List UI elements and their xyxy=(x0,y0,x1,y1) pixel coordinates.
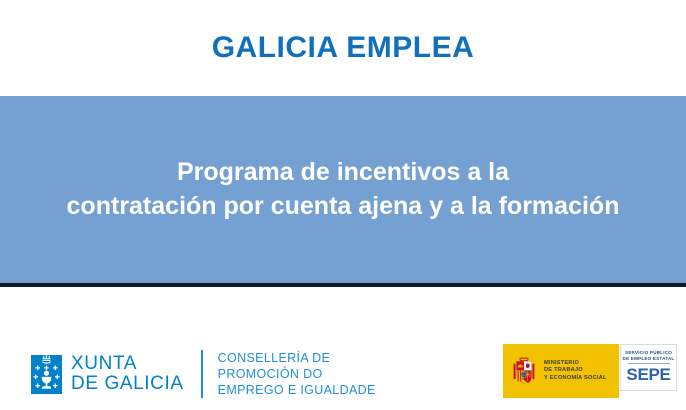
ministerio-line-1: MINISTERIO xyxy=(544,360,607,367)
ministerio-wordmark: MINISTERIO DE TRABAJO Y ECONOMÍA SOCIAL xyxy=(544,360,607,382)
escudo-de-espana-icon xyxy=(511,355,537,387)
conselleria-line-2: PROMOCIÓN DO xyxy=(218,366,376,382)
program-banner: Programa de incentivos a la contratación… xyxy=(0,96,686,283)
logo-divider xyxy=(201,350,203,398)
xunta-coat-of-arms-icon xyxy=(31,355,62,394)
conselleria-name: CONSELLERÍA DE PROMOCIÓN DO EMPREGO E IG… xyxy=(218,350,376,398)
program-banner-line-2: contratación por cuenta ajena y a la for… xyxy=(12,190,674,223)
page-header: GALICIA EMPLEA xyxy=(0,0,686,96)
conselleria-line-3: EMPREGO E IGUALDADE xyxy=(218,382,376,398)
xunta-de-galicia-logo: XUNTA DE GALICIA CONSELLERÍA DE PROMOCIÓ… xyxy=(31,350,376,398)
page-footer: XUNTA DE GALICIA CONSELLERÍA DE PROMOCIÓ… xyxy=(0,287,686,410)
xunta-word-line-1: XUNTA xyxy=(71,354,184,374)
sepe-logo: SERVICIO PÚBLICO DE EMPLEO ESTATAL SEPE xyxy=(620,344,677,391)
ministerio-de-trabajo-logo: MINISTERIO DE TRABAJO Y ECONOMÍA SOCIAL xyxy=(503,344,619,398)
program-banner-line-1: Programa de incentivos a la xyxy=(12,156,674,189)
conselleria-line-1: CONSELLERÍA DE xyxy=(218,350,376,366)
sepe-divider xyxy=(628,363,670,364)
page-title: GALICIA EMPLEA xyxy=(212,31,475,65)
xunta-wordmark: XUNTA DE GALICIA xyxy=(71,354,184,394)
sepe-line-2: DE EMPLEO ESTATAL xyxy=(621,356,676,362)
sepe-acronym: SEPE xyxy=(621,365,676,385)
xunta-word-line-2: DE GALICIA xyxy=(71,374,184,394)
program-banner-text: Programa de incentivos a la contratación… xyxy=(0,156,686,223)
ministerio-line-3: Y ECONOMÍA SOCIAL xyxy=(544,375,607,382)
ministerio-line-2: DE TRABAJO xyxy=(544,367,607,374)
sepe-line-1: SERVICIO PÚBLICO xyxy=(621,350,676,356)
sepe-fullname: SERVICIO PÚBLICO DE EMPLEO ESTATAL xyxy=(621,350,676,361)
